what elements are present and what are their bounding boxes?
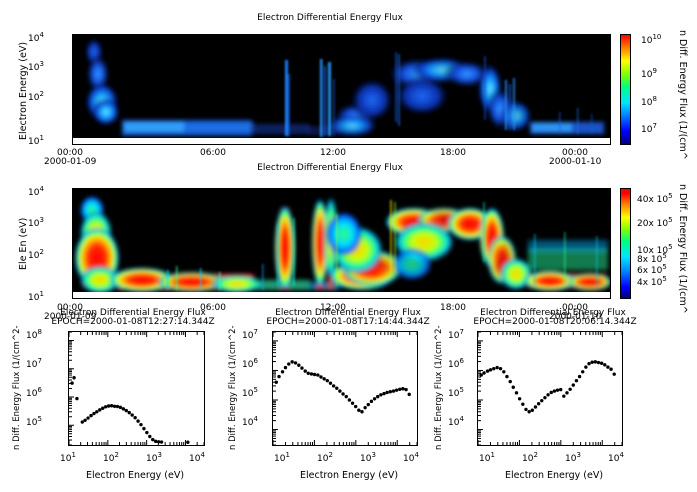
spectrum-right-subtitle: EPOCH=2000-01-08T20:06:14.344Z — [450, 317, 660, 327]
spectrum-right-ylabel: n Diff. Energy Flux (1/(cm^2- — [434, 325, 444, 450]
spectrogram-top-cbtick-7: 107 — [641, 122, 657, 135]
spectrogram-top-ytick-1: 101 — [28, 134, 44, 147]
spectrum-mid-ytick-7: 107 — [242, 328, 258, 341]
spectrogram-mid-ytick-1: 101 — [28, 290, 44, 303]
spectrum-right-ytick-6: 106 — [448, 357, 464, 370]
spectrum-left-ytick-8: 108 — [26, 328, 42, 341]
spectrogram-mid-cbtick-40: 40x 105 — [637, 192, 673, 205]
spectrogram-top-xtick-3: 18:00 — [440, 148, 466, 158]
spectrogram-top-colorbar-label: n Diff. Energy Flux (1/(cm^ — [677, 30, 688, 160]
spectrum-mid-ytick-5: 105 — [242, 386, 258, 399]
spectrum-right-xtick-2: 102 — [522, 451, 538, 464]
spectrum-left-xtick-1: 101 — [60, 451, 76, 464]
spectrogram-top-title: Electron Differential Energy Flux — [140, 13, 520, 23]
spectrogram-mid-title: Electron Differential Energy Flux — [140, 163, 520, 173]
spectrogram-mid-colorbar-label: n Diff. Energy Flux (1/(cm^ — [677, 184, 688, 314]
spectrum-mid-xtick-3: 103 — [360, 451, 376, 464]
spectrum-left-xlabel: Electron Energy (eV) — [86, 470, 184, 481]
spectrogram-mid-colorbar[interactable] — [620, 188, 631, 299]
spectrogram-mid-cbtick-20: 20x 105 — [637, 216, 673, 229]
spectrum-left-xtick-2: 102 — [103, 451, 119, 464]
spectrogram-mid-ytick-3: 103 — [28, 216, 44, 229]
spectrum-left-xtick-4: 104 — [189, 451, 205, 464]
spectrum-left-ytick-5: 105 — [26, 415, 42, 428]
spectrogram-mid-ytick-4: 104 — [28, 185, 44, 198]
spectrogram-mid-ytick-2: 102 — [28, 248, 44, 261]
spectrogram-top-cbtick-9: 109 — [641, 67, 657, 80]
spectrum-mid-subtitle: EPOCH=2000-01-08T17:14:44.344Z — [243, 317, 453, 327]
spectrum-mid-ylabel: n Diff. Energy Flux (1/(cm^2- — [228, 325, 238, 450]
spectrogram-top-ytick-2: 102 — [28, 90, 44, 103]
spectrogram-top-frame — [72, 34, 611, 145]
spectrum-left-ytick-7: 107 — [26, 357, 42, 370]
spectrum-left-subtitle: EPOCH=2000-01-08T12:27:14.344Z — [28, 317, 238, 327]
spectrum-left-ylabel: n Diff. Energy Flux (1/(cm^2- — [12, 325, 22, 450]
spectrum-left-scatter — [69, 332, 204, 445]
spectrum-right-scatter — [478, 332, 622, 445]
spectrum-right-xtick-4: 104 — [608, 451, 624, 464]
spectrogram-top-colorbar[interactable] — [620, 34, 631, 145]
spectrum-mid-ytick-4: 104 — [242, 415, 258, 428]
spectrogram-top-xdate-right: 2000-01-10 — [549, 157, 601, 167]
spectrum-mid-xtick-2: 102 — [317, 451, 333, 464]
spectrum-mid-xlabel: Electron Energy (eV) — [300, 470, 398, 481]
spectrum-right-ytick-5: 105 — [448, 386, 464, 399]
spectrogram-mid-frame — [72, 188, 611, 299]
spectrum-right-xtick-1: 101 — [479, 451, 495, 464]
spectrum-right-xtick-3: 103 — [565, 451, 581, 464]
figure-canvas: Electron Differential Energy Flux Electr… — [0, 0, 697, 492]
spectrum-left-xtick-3: 103 — [146, 451, 162, 464]
spectrum-right-xlabel: Electron Energy (eV) — [505, 470, 603, 481]
spectrum-right-ytick-7: 107 — [448, 328, 464, 341]
spectrogram-top-ytick-3: 103 — [28, 60, 44, 73]
spectrogram-top-xtick-1: 06:00 — [200, 148, 226, 158]
spectrum-mid-xtick-1: 101 — [274, 451, 290, 464]
spectrogram-top-cbtick-10: 1010 — [641, 33, 661, 46]
spectrogram-top-cbtick-8: 108 — [641, 95, 657, 108]
spectrogram-top-xtick-2: 12:00 — [320, 148, 346, 158]
spectrum-mid-ytick-6: 106 — [242, 357, 258, 370]
spectrum-left-ytick-6: 106 — [26, 386, 42, 399]
spectrogram-mid-cbtick-4: 4x 105 — [637, 275, 667, 288]
spectrum-mid-xtick-4: 104 — [403, 451, 419, 464]
spectrum-right-plot-area[interactable] — [477, 331, 623, 446]
spectrum-left-plot-area[interactable] — [68, 331, 205, 446]
spectrum-mid-plot-area[interactable] — [272, 331, 418, 446]
spectrum-right-ytick-4: 104 — [448, 415, 464, 428]
spectrogram-top-xdate-left: 2000-01-09 — [44, 157, 96, 167]
spectrogram-top-ytick-4: 104 — [28, 31, 44, 44]
spectrum-mid-scatter — [273, 332, 417, 445]
